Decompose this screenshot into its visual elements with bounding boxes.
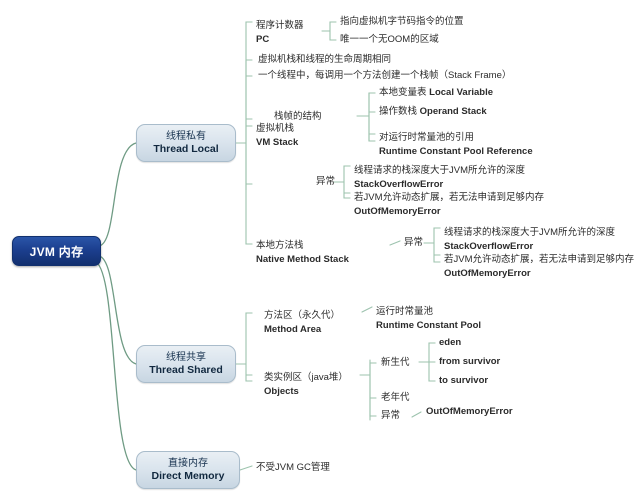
bracket-vm-exception xyxy=(344,166,350,198)
bracket-young-gen xyxy=(429,343,435,381)
node-pc[interactable]: 程序计数器 PC xyxy=(256,14,304,47)
branch-node-thread-local[interactable]: 线程私有 Thread Local xyxy=(136,124,236,162)
node-vm-stack-en: VM Stack xyxy=(256,137,298,149)
bracket-nms-exception xyxy=(434,228,440,262)
branch-label-cn: 直接内存 xyxy=(168,458,208,470)
leaf-vm-so-cn: 线程请求的栈深度大于JVM所允许的深度 xyxy=(354,165,525,176)
leaf-to-survivor: to survivor xyxy=(439,375,488,387)
root-label: JVM 内存 xyxy=(30,243,84,260)
node-pc-en: PC xyxy=(256,34,304,46)
leaf-runtime-constant-pool-ref: 对运行时常量池的引用 Runtime Constant Pool Referen… xyxy=(379,126,533,159)
stem-direct-memory xyxy=(240,466,252,470)
leaf-local-variable-en: Local Variable xyxy=(429,87,493,98)
leaf-pc-no-oom: 唯一一个无OOM的区域 xyxy=(340,34,439,46)
bracket-pc xyxy=(330,22,336,40)
leaf-direct-memory-gc: 不受JVM GC管理 xyxy=(256,462,330,474)
stem-heap-exception xyxy=(412,412,421,417)
node-method-area-en: Method Area xyxy=(264,324,340,336)
bracket-vm-stack xyxy=(246,60,252,190)
leaf-to-survivor-en: to survivor xyxy=(439,375,488,386)
leaf-nms-oom: 若JVM允许动态扩展，若无法申请到足够内存 OutOfMemoryError xyxy=(444,248,634,281)
mindmap-canvas: JVM 内存 线程私有 Thread Local 线程共享 Thread Sha… xyxy=(0,0,640,493)
leaf-pc-pointer: 指向虚拟机字节码指令的位置 xyxy=(340,16,464,28)
leaf-nms-oom-cn: 若JVM允许动态扩展，若无法申请到足够内存 xyxy=(444,254,634,265)
root-node[interactable]: JVM 内存 xyxy=(12,236,101,266)
leaf-runtime-constant-pool: 运行时常量池 Runtime Constant Pool xyxy=(376,300,481,333)
group-nms-exception[interactable]: 异常 xyxy=(404,237,423,249)
leaf-local-variable-cn: 本地变量表 xyxy=(379,87,429,98)
branch-label-cn: 线程共享 xyxy=(166,352,206,364)
leaf-vm-oom-en: OutOfMemoryError xyxy=(354,206,544,218)
group-young-generation[interactable]: 新生代 xyxy=(381,357,410,369)
leaf-vm-oom-cn: 若JVM允许动态扩展，若无法申请到足够内存 xyxy=(354,192,544,203)
leaf-heap-oom: OutOfMemoryError xyxy=(426,406,513,418)
link-root-thread-local xyxy=(99,143,136,246)
node-objects[interactable]: 类实例区（java堆） Objects xyxy=(264,366,348,399)
leaf-heap-oom-en: OutOfMemoryError xyxy=(426,406,513,417)
branch-label-cn: 线程私有 xyxy=(166,131,206,143)
leaf-vm-lifecycle: 虚拟机栈和线程的生命周期相同 xyxy=(258,54,391,66)
bracket-thread-shared xyxy=(246,313,252,381)
node-native-method-stack[interactable]: 本地方法栈 Native Method Stack xyxy=(256,234,349,267)
group-heap-exception[interactable]: 异常 xyxy=(381,410,400,422)
bracket-objects-top xyxy=(370,363,376,416)
branch-label-en: Thread Local xyxy=(153,143,218,155)
leaf-nms-so-cn: 线程请求的栈深度大于JVM所允许的深度 xyxy=(444,227,615,238)
bracket-thread-local xyxy=(246,22,252,244)
node-objects-en: Objects xyxy=(264,386,348,398)
branch-label-en: Direct Memory xyxy=(152,470,225,482)
stem-nms-exception xyxy=(390,241,400,245)
leaf-operand-stack: 操作数栈 Operand Stack xyxy=(379,106,487,118)
leaf-rcpr-cn: 对运行时常量池的引用 xyxy=(379,132,474,143)
leaf-rcpr-en: Runtime Constant Pool Reference xyxy=(379,146,533,158)
stem-runtime-constant-pool xyxy=(362,307,372,312)
leaf-eden-en: eden xyxy=(439,337,461,348)
group-frame-structure[interactable]: 栈帧的结构 xyxy=(274,111,322,123)
node-pc-cn: 程序计数器 xyxy=(256,20,304,31)
leaf-nms-oom-en: OutOfMemoryError xyxy=(444,268,634,280)
node-nms-en: Native Method Stack xyxy=(256,254,349,266)
group-old-generation[interactable]: 老年代 xyxy=(381,392,410,404)
leaf-operand-stack-cn: 操作数栈 xyxy=(379,106,420,117)
bracket-frame-structure xyxy=(369,93,375,141)
node-method-area-cn: 方法区（永久代） xyxy=(264,310,340,321)
leaf-rcp-cn: 运行时常量池 xyxy=(376,306,433,317)
leaf-from-survivor-en: from survivor xyxy=(439,356,500,367)
link-root-direct-memory xyxy=(96,262,136,470)
leaf-operand-stack-en: Operand Stack xyxy=(420,106,487,117)
group-vm-stack-exception[interactable]: 异常 xyxy=(316,176,335,188)
leaf-vm-stack-frame: 一个线程中，每调用一个方法创建一个栈帧（Stack Frame） xyxy=(258,70,511,82)
leaf-local-variable: 本地变量表 Local Variable xyxy=(379,87,493,99)
leaf-rcp-en: Runtime Constant Pool xyxy=(376,320,481,332)
node-vm-stack-cn: 虚拟机栈 xyxy=(256,123,294,134)
leaf-eden: eden xyxy=(439,337,461,349)
leaf-from-survivor: from survivor xyxy=(439,356,500,368)
node-method-area[interactable]: 方法区（永久代） Method Area xyxy=(264,304,340,337)
leaf-vm-oom: 若JVM允许动态扩展，若无法申请到足够内存 OutOfMemoryError xyxy=(354,186,544,219)
node-objects-cn: 类实例区（java堆） xyxy=(264,372,348,383)
branch-label-en: Thread Shared xyxy=(149,364,223,376)
branch-node-direct-memory[interactable]: 直接内存 Direct Memory xyxy=(136,451,240,489)
branch-node-thread-shared[interactable]: 线程共享 Thread Shared xyxy=(136,345,236,383)
node-nms-cn: 本地方法栈 xyxy=(256,240,304,251)
link-root-thread-shared xyxy=(99,256,136,364)
